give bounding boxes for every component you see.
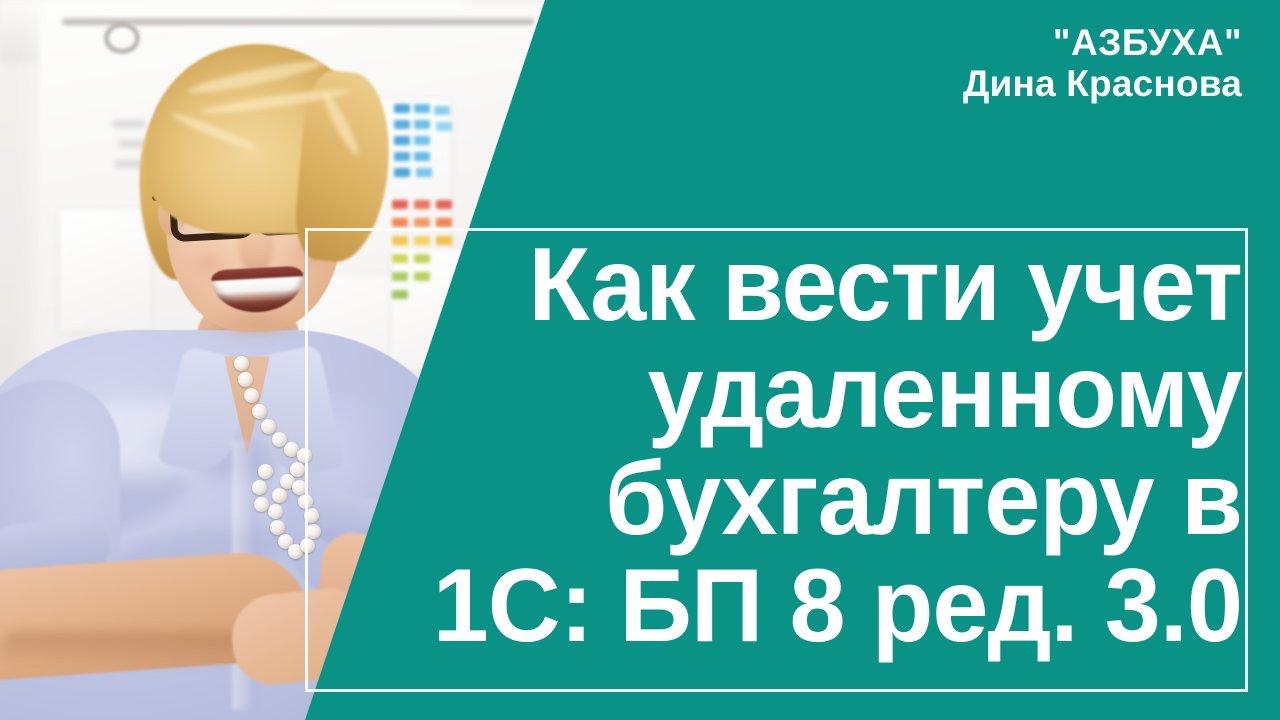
title-line-2: удаленному	[357, 339, 1242, 446]
video-thumbnail: "АЗБУХА" Дина Краснова Как вести учет уд…	[0, 0, 1280, 720]
video-title: Как вести учет удаленному бухгалтеру в 1…	[330, 232, 1242, 660]
title-line-1: Как вести учет	[357, 232, 1242, 339]
channel-name: "АЗБУХА"	[963, 22, 1242, 63]
channel-branding: "АЗБУХА" Дина Краснова	[963, 22, 1242, 105]
title-line-3: бухгалтеру в	[357, 446, 1242, 553]
pearl-necklace	[228, 352, 322, 562]
presenter-name: Дина Краснова	[963, 63, 1242, 104]
title-line-4: 1С: БП 8 ред. 3.0	[357, 553, 1242, 660]
